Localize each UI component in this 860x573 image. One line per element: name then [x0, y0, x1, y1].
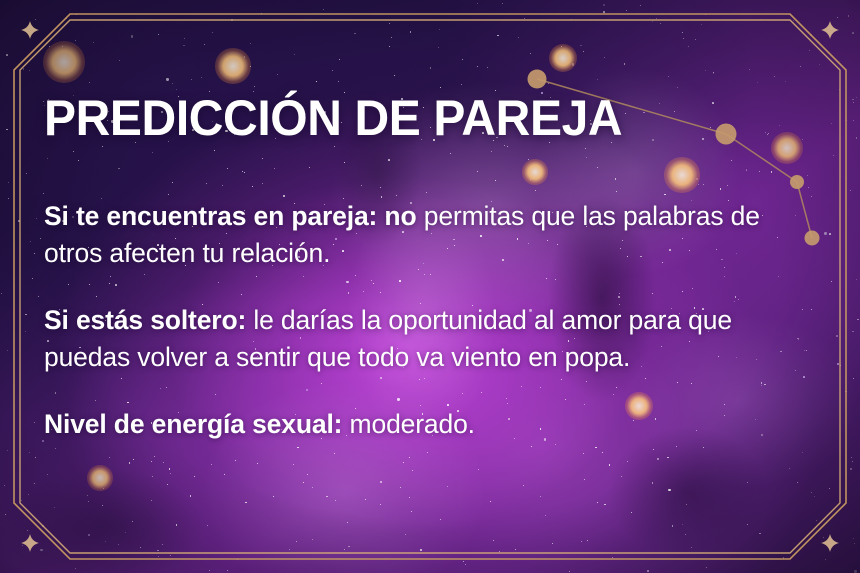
star	[29, 70, 30, 71]
star	[837, 17, 839, 19]
star	[23, 68, 25, 70]
star	[853, 378, 854, 379]
star	[34, 483, 35, 484]
star	[856, 279, 857, 280]
star	[7, 450, 8, 451]
paragraph-single-lead: Si estás soltero:	[44, 305, 246, 335]
star	[32, 278, 33, 279]
star	[831, 281, 833, 283]
star	[853, 538, 854, 539]
star	[848, 15, 850, 17]
star	[25, 314, 27, 316]
star	[5, 514, 6, 515]
star	[825, 559, 826, 560]
paragraph-energy-lead: Nivel de energía sexual:	[44, 409, 342, 439]
star	[852, 32, 854, 34]
star	[839, 89, 840, 90]
star	[856, 137, 858, 139]
star	[853, 102, 854, 103]
sparkle-bottom-right	[821, 534, 839, 552]
star	[22, 545, 23, 546]
star	[857, 319, 859, 321]
sparkle-top-right	[821, 21, 839, 39]
sparkle-bottom-left	[21, 534, 39, 552]
star	[29, 452, 30, 453]
star	[831, 123, 832, 124]
star	[40, 549, 42, 551]
paragraph-single: Si estás soltero: le darías la oportunid…	[44, 302, 806, 376]
star	[833, 155, 834, 156]
page-title: PREDICCIÓN DE PAREJA	[44, 92, 622, 144]
star	[829, 488, 830, 489]
star	[8, 198, 10, 200]
star	[40, 238, 42, 240]
star	[34, 253, 35, 254]
star	[1, 293, 2, 294]
paragraph-energy: Nivel de energía sexual: moderado.	[44, 406, 806, 443]
star	[21, 500, 23, 502]
star	[856, 97, 857, 98]
star	[852, 99, 854, 101]
star	[4, 485, 6, 487]
star	[851, 457, 852, 458]
paragraph-couple: Si te encuentras en pareja: no permitas …	[44, 198, 806, 272]
star	[854, 543, 855, 544]
star	[35, 457, 36, 458]
star	[846, 178, 847, 179]
star	[36, 218, 37, 219]
star	[846, 120, 848, 122]
star	[845, 391, 847, 393]
star	[850, 468, 852, 470]
star	[6, 129, 8, 131]
star	[6, 54, 8, 56]
star	[26, 173, 27, 174]
star	[829, 233, 831, 235]
star	[8, 182, 9, 183]
star	[5, 514, 6, 515]
star	[837, 363, 839, 365]
star	[852, 461, 853, 462]
star	[27, 530, 28, 531]
star	[836, 335, 838, 337]
star	[853, 120, 854, 121]
star	[852, 331, 854, 333]
star	[28, 494, 29, 495]
star	[823, 537, 824, 538]
star	[34, 422, 35, 423]
star	[35, 19, 37, 21]
star	[824, 232, 826, 234]
star	[7, 350, 8, 351]
star	[854, 570, 856, 572]
paragraph-energy-text: moderado.	[342, 409, 475, 439]
prediction-body: Si te encuentras en pareja: no permitas …	[44, 198, 806, 443]
sparkle-top-left	[21, 21, 39, 39]
horoscope-prediction-card: PREDICCIÓN DE PAREJA Si te encuentras en…	[0, 0, 860, 573]
card-content: PREDICCIÓN DE PAREJA Si te encuentras en…	[44, 0, 822, 573]
star	[840, 365, 841, 366]
star	[850, 190, 851, 191]
star	[38, 296, 39, 297]
star	[18, 220, 20, 222]
star	[30, 241, 31, 242]
paragraph-couple-lead: Si te encuentras en pareja: no	[44, 201, 417, 231]
star	[25, 331, 26, 332]
